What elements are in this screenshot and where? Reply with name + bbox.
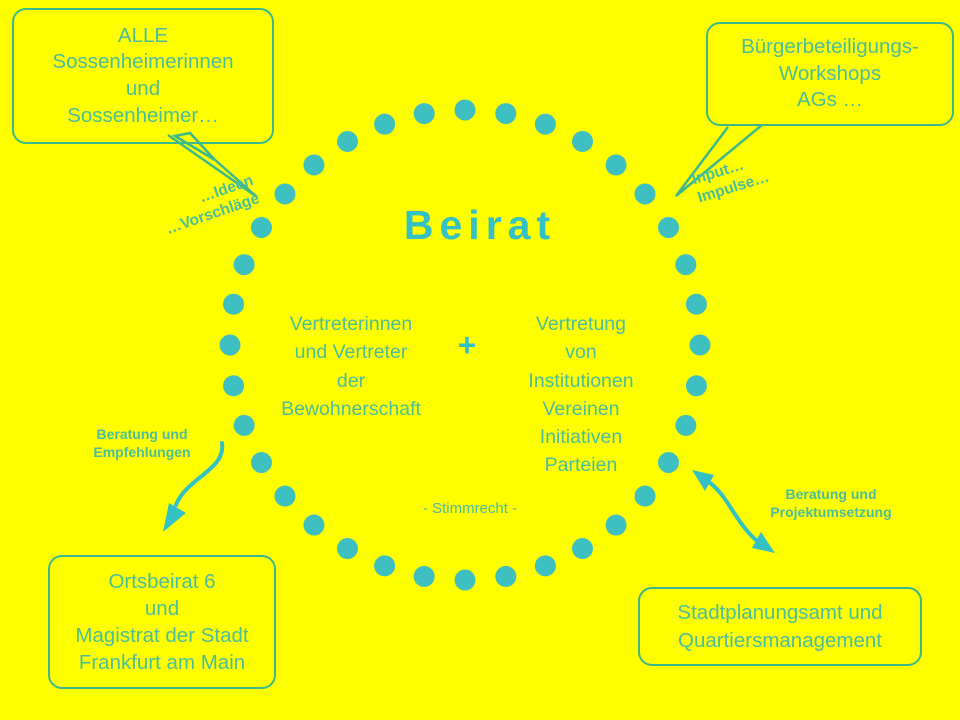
stimmrecht-footnote: - Stimmrecht - — [330, 500, 610, 517]
circle-dot — [234, 415, 255, 436]
circle-dot — [495, 566, 516, 587]
circle-dot — [220, 335, 241, 356]
center-left-column: Vertreterinnen und Vertreter der Bewohne… — [258, 310, 444, 423]
circle-dot — [337, 538, 358, 559]
arrow-projektumsetzung-head-up — [692, 470, 714, 491]
circle-dot — [274, 486, 295, 507]
circle-dot — [675, 415, 696, 436]
circle-dot — [414, 566, 435, 587]
circle-dot — [606, 515, 627, 536]
circle-dot — [635, 486, 656, 507]
plus-icon: + — [447, 327, 487, 364]
circle-dot — [572, 538, 593, 559]
circle-dot — [535, 114, 556, 135]
circle-dot — [223, 294, 244, 315]
circle-dot — [572, 131, 593, 152]
bubble-buergerbeteiligung: Bürgerbeteiligungs- Workshops AGs … — [706, 22, 954, 126]
annotation-input-impulse: Input… Impulse… — [690, 137, 816, 208]
circle-dot — [337, 131, 358, 152]
annotation-beratung-projektumsetzung: Beratung und Projektumsetzung — [746, 485, 916, 521]
box-stadtplanungsamt: Stadtplanungsamt und Quartiersmanagement — [638, 587, 922, 666]
circle-dot — [455, 100, 476, 121]
circle-dot — [455, 570, 476, 591]
circle-dot — [303, 515, 324, 536]
diagram-canvas: ALLE Sossenheimerinnen und Sossenheimer…… — [0, 0, 960, 720]
circle-dot — [686, 375, 707, 396]
arrow-projektumsetzung-head-down — [752, 532, 775, 553]
box-ortsbeirat: Ortsbeirat 6 und Magistrat der Stadt Fra… — [48, 555, 276, 689]
bubble-alle-text: ALLE Sossenheimerinnen und Sossenheimer… — [14, 23, 272, 130]
annotation-beratung-empfehlungen: Beratung und Empfehlungen — [72, 425, 212, 461]
circle-dot — [303, 154, 324, 175]
circle-dot — [686, 294, 707, 315]
arrow-beratung-empfehlungen-head — [163, 503, 186, 532]
circle-dot — [690, 335, 711, 356]
circle-dot — [223, 375, 244, 396]
circle-dot — [606, 154, 627, 175]
bubble-alle-sossenheimer: ALLE Sossenheimerinnen und Sossenheimer… — [12, 8, 274, 144]
circle-dot — [374, 555, 395, 576]
box-stadtplanungsamt-text: Stadtplanungsamt und Quartiersmanagement — [640, 599, 920, 653]
box-ortsbeirat-text: Ortsbeirat 6 und Magistrat der Stadt Fra… — [50, 568, 274, 676]
center-right-column: Vertretung von Institutionen Vereinen In… — [488, 310, 674, 480]
circle-dot — [234, 254, 255, 275]
circle-dot — [675, 254, 696, 275]
circle-dot — [535, 555, 556, 576]
bubble-buergerbeteiligung-text: Bürgerbeteiligungs- Workshops AGs … — [708, 34, 952, 114]
circle-dot — [251, 452, 272, 473]
circle-dot — [495, 103, 516, 124]
circle-dot — [374, 114, 395, 135]
circle-dot — [414, 103, 435, 124]
